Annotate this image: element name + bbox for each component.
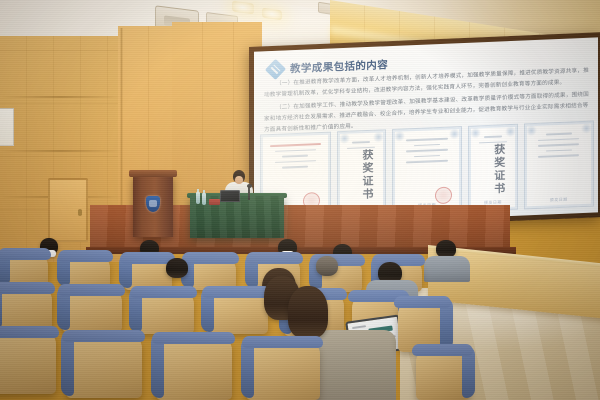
auditorium-seat[interactable] (2, 252, 48, 286)
auditorium-seat[interactable] (0, 330, 56, 394)
auditorium-seat[interactable] (66, 334, 142, 398)
wall-mounted-white-panel (0, 108, 14, 146)
certificate: 颁发日期 (524, 121, 595, 210)
auditorium-seat[interactable] (156, 336, 232, 400)
slide-title: 教学成果包括的内容 (290, 57, 388, 76)
presenter-face (235, 176, 243, 184)
water-bottle[interactable] (196, 192, 200, 204)
certificate: 获奖证书 颁发日期 (468, 124, 517, 212)
auditorium-seat[interactable] (246, 340, 320, 400)
diamond-bullet-icon (265, 58, 286, 79)
audience-head (316, 256, 338, 276)
certificate-footer: 颁发日期 (525, 195, 594, 204)
auditorium-seat[interactable] (0, 286, 52, 330)
laptop-screen (220, 190, 240, 202)
water-bottle[interactable] (202, 193, 206, 205)
certificate-heading: 获奖证书 (481, 144, 505, 197)
certificate-heading: 获奖证书 (349, 149, 373, 202)
auditorium-seat[interactable] (416, 348, 470, 400)
auditorium-seat[interactable] (134, 290, 194, 334)
wall-seam (0, 150, 122, 152)
speaker-podium[interactable] (133, 175, 173, 237)
auditorium-seat[interactable] (186, 256, 236, 290)
wall-seam (0, 96, 122, 98)
projection-screen: 教学成果包括的内容 （一）在推进教育教学改革方面，改革人才培养机制，创新人才培养… (254, 37, 598, 226)
lecture-hall-photo: 教学成果包括的内容 （一）在推进教育教学改革方面，改革人才培养机制，创新人才培养… (0, 0, 600, 400)
auditorium-seat[interactable] (206, 290, 268, 334)
auditorium-seat[interactable] (62, 254, 110, 288)
presenter-laptop[interactable] (218, 190, 242, 204)
certificate: 颁发日期 (392, 126, 463, 215)
certificate-text-lines (266, 143, 324, 173)
projection-screen-frame: 教学成果包括的内容 （一）在推进教育教学改革方面，改革人才培养机制，创新人才培养… (249, 32, 600, 232)
note-taker-head (288, 286, 328, 338)
university-shield-emblem (146, 196, 160, 212)
audience-head (166, 258, 188, 278)
auditorium-seat[interactable] (62, 288, 122, 332)
desk-microphone[interactable] (248, 186, 250, 200)
red-gift-box[interactable] (209, 199, 220, 205)
audience-shoulders (424, 256, 470, 282)
podium-top (129, 170, 177, 177)
auditorium-seat[interactable] (124, 256, 172, 290)
side-door[interactable] (48, 178, 88, 242)
